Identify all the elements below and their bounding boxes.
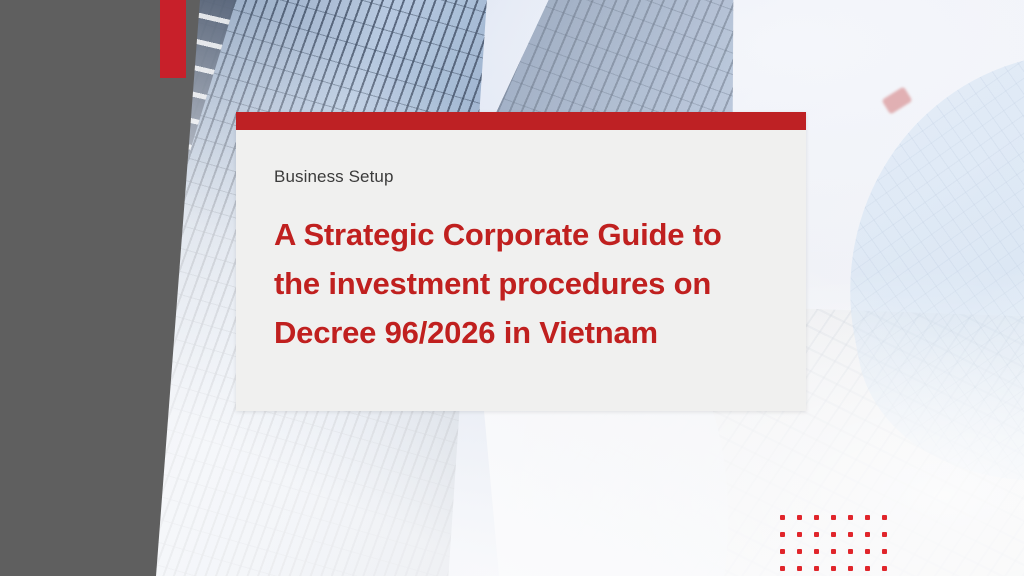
dot bbox=[797, 515, 802, 520]
dot bbox=[814, 566, 819, 571]
dot bbox=[780, 532, 785, 537]
dot-grid-decoration bbox=[780, 515, 899, 576]
dot bbox=[780, 566, 785, 571]
dot bbox=[848, 549, 853, 554]
dot bbox=[865, 515, 870, 520]
dot bbox=[814, 532, 819, 537]
dot bbox=[882, 532, 887, 537]
card-headline: A Strategic Corporate Guide to the inves… bbox=[274, 210, 766, 357]
slide-canvas: Business Setup A Strategic Corporate Gui… bbox=[0, 0, 1024, 576]
title-card: Business Setup A Strategic Corporate Gui… bbox=[236, 112, 806, 411]
dot bbox=[848, 566, 853, 571]
dot bbox=[848, 515, 853, 520]
dot bbox=[848, 532, 853, 537]
card-kicker: Business Setup bbox=[274, 166, 766, 188]
dot bbox=[797, 532, 802, 537]
dot bbox=[831, 549, 836, 554]
dot bbox=[780, 515, 785, 520]
dot bbox=[797, 549, 802, 554]
dot bbox=[797, 566, 802, 571]
dot bbox=[780, 549, 785, 554]
card-body: Business Setup A Strategic Corporate Gui… bbox=[236, 130, 806, 357]
dot bbox=[882, 515, 887, 520]
dot bbox=[865, 566, 870, 571]
dot bbox=[814, 549, 819, 554]
dot bbox=[865, 549, 870, 554]
red-accent-bar bbox=[160, 0, 186, 78]
dot bbox=[831, 532, 836, 537]
card-top-accent-bar bbox=[236, 112, 806, 130]
dot bbox=[814, 515, 819, 520]
dot bbox=[865, 532, 870, 537]
dot bbox=[831, 566, 836, 571]
dot bbox=[831, 515, 836, 520]
dot bbox=[882, 566, 887, 571]
dot bbox=[882, 549, 887, 554]
